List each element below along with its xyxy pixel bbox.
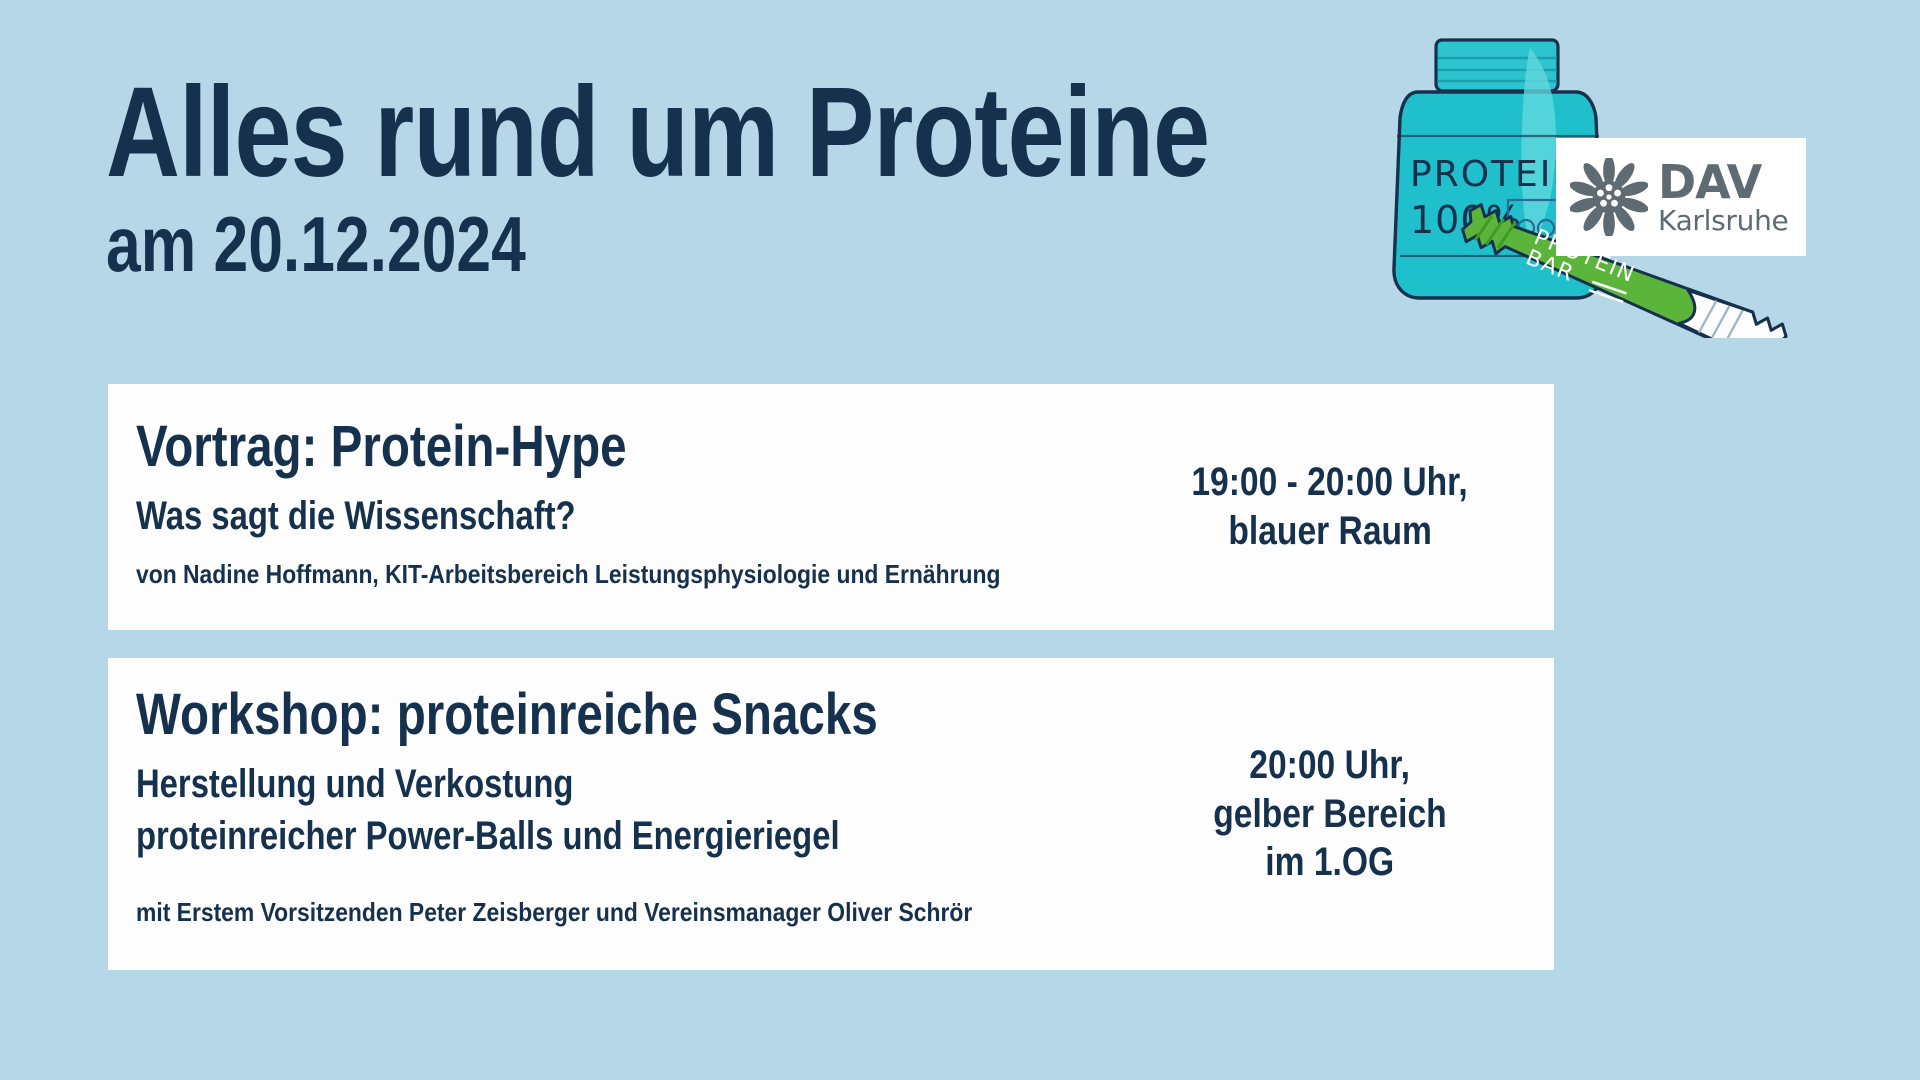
event-date: am 20.12.2024 bbox=[106, 205, 1162, 283]
dav-logo: DAV Karlsruhe bbox=[1556, 138, 1806, 256]
edelweiss-icon bbox=[1570, 158, 1648, 236]
event-time-block: 20:00 Uhr, gelber Bereich im 1.OG bbox=[1150, 658, 1510, 970]
event-subtitle: Was sagt die Wissenschaft? bbox=[136, 494, 576, 539]
dav-city: Karlsruhe bbox=[1658, 207, 1788, 235]
event-card-vortrag: Vortrag: Protein-Hype Was sagt die Wisse… bbox=[108, 384, 1554, 630]
event-card-workshop-content: Workshop: proteinreiche Snacks Herstellu… bbox=[136, 658, 1196, 970]
event-time-line: 20:00 Uhr, bbox=[1250, 741, 1411, 790]
event-card-workshop: Workshop: proteinreiche Snacks Herstellu… bbox=[108, 658, 1554, 970]
event-floor-line: im 1.OG bbox=[1266, 838, 1395, 887]
event-byline: von Nadine Hoffmann, KIT-Arbeitsbereich … bbox=[136, 560, 1000, 589]
event-title: Workshop: proteinreiche Snacks bbox=[136, 686, 878, 744]
event-time-block: 19:00 - 20:00 Uhr, blauer Raum bbox=[1150, 384, 1510, 630]
page-title: Alles rund um Proteine bbox=[106, 70, 1162, 195]
event-location-line: blauer Raum bbox=[1228, 507, 1432, 556]
event-subtitle-line-2: proteinreicher Power-Balls und Energieri… bbox=[136, 814, 840, 859]
dav-logo-text: DAV Karlsruhe bbox=[1658, 159, 1788, 235]
event-title: Vortrag: Protein-Hype bbox=[136, 418, 627, 476]
headline-block: Alles rund um Proteine am 20.12.2024 bbox=[106, 70, 1426, 283]
dav-name: DAV bbox=[1658, 159, 1788, 205]
event-subtitle-line-1: Herstellung und Verkostung bbox=[136, 762, 573, 807]
event-time-line: 19:00 - 20:00 Uhr, bbox=[1192, 458, 1468, 507]
event-byline: mit Erstem Vorsitzenden Peter Zeisberger… bbox=[136, 898, 972, 927]
event-card-vortrag-content: Vortrag: Protein-Hype Was sagt die Wisse… bbox=[136, 384, 1196, 630]
poster-canvas: Alles rund um Proteine am 20.12.2024 PRO… bbox=[0, 0, 1920, 1080]
event-location-line: gelber Bereich bbox=[1213, 790, 1446, 839]
